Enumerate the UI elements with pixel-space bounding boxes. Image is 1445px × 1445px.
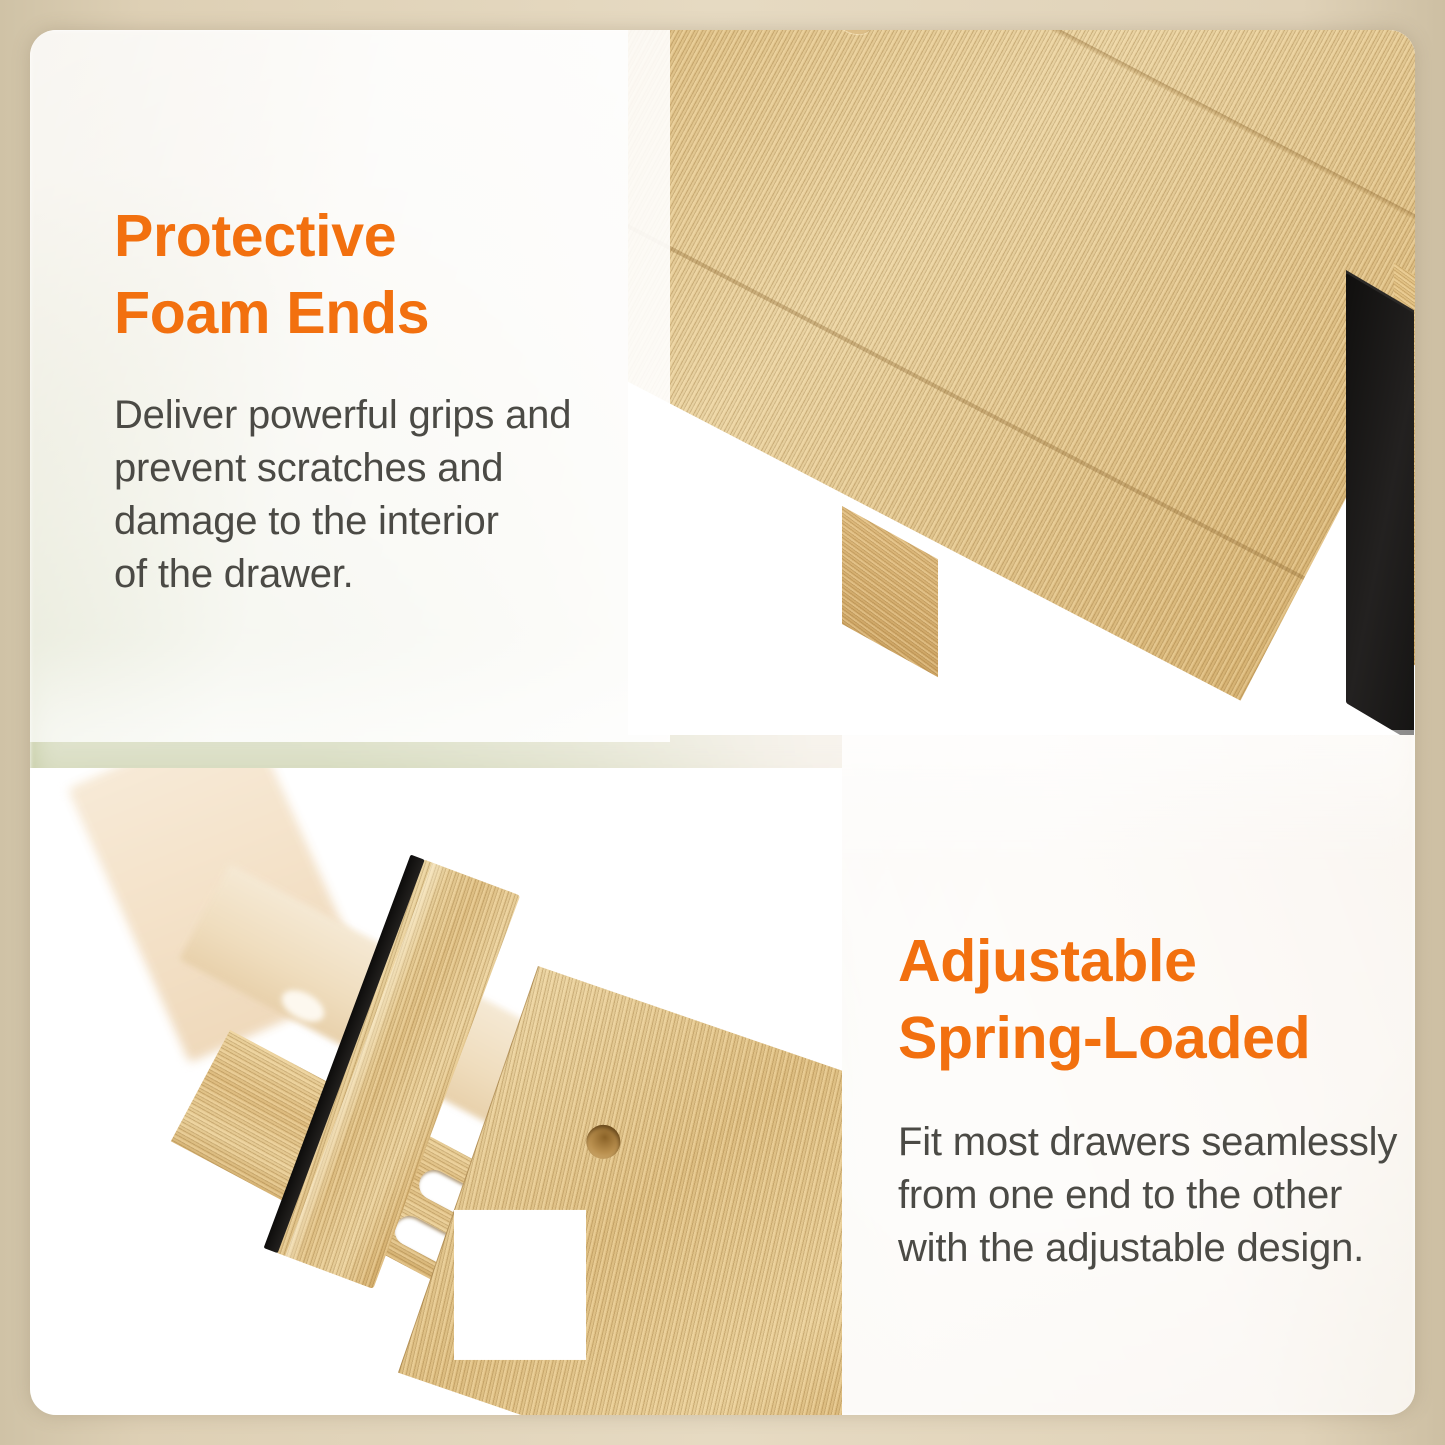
product-feature-image: Protective Foam Ends Deliver powerful gr…: [0, 0, 1445, 1445]
black-foam-end-cap: [1346, 273, 1414, 735]
wood-grain-texture: [628, 30, 1415, 701]
feature-heading: Adjustable Spring-Loaded: [898, 923, 1408, 1076]
feature-body: Fit most drawers seamlessly from one end…: [898, 1116, 1408, 1274]
feature-text-adjustable-spring-loaded: Adjustable Spring-Loaded Fit most drawer…: [898, 923, 1408, 1275]
product-panel-top-right: [628, 30, 1415, 735]
board-notch-cut: [454, 1210, 586, 1360]
photo-spring-mechanism-parts: [30, 768, 842, 1415]
image-card: Protective Foam Ends Deliver powerful gr…: [30, 30, 1415, 1415]
feature-heading: Protective Foam Ends: [114, 198, 634, 351]
bamboo-board-face: [628, 30, 1415, 701]
photo-foam-end-closeup: [628, 30, 1415, 735]
feature-text-protective-foam-ends: Protective Foam Ends Deliver powerful gr…: [114, 198, 634, 601]
product-panel-bottom-left: [30, 768, 842, 1415]
feature-body: Deliver powerful grips and prevent scrat…: [114, 389, 634, 600]
